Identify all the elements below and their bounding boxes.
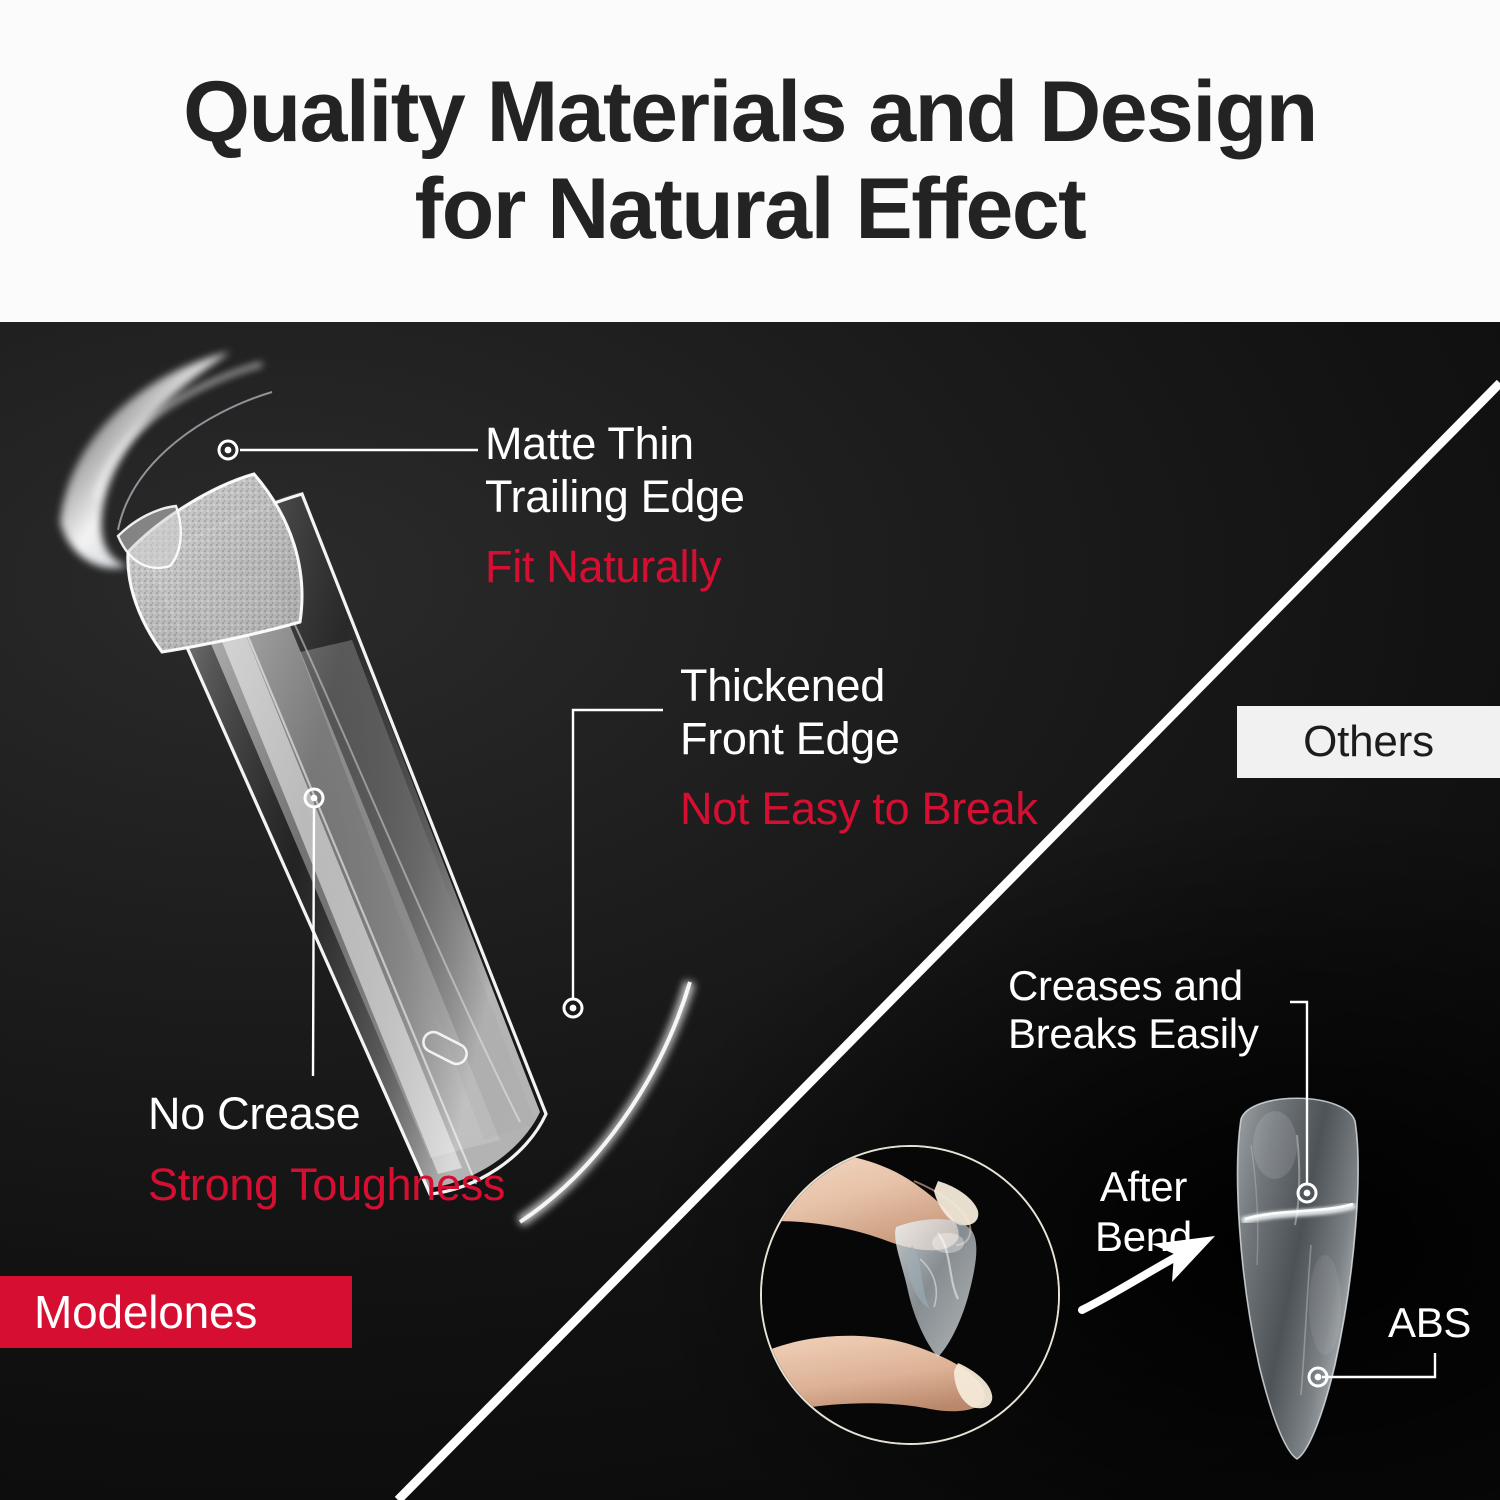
callout-thick-sub: Not Easy to Break: [680, 783, 1038, 836]
header-banner: Quality Materials and Designfor Natural …: [0, 0, 1500, 322]
callout-creases-title: Creases and Breaks Easily: [1008, 962, 1259, 1058]
infographic-page: Quality Materials and Designfor Natural …: [0, 0, 1500, 1500]
competitor-badge-others: Others: [1237, 706, 1500, 778]
title-line-1: Quality Materials and Design: [183, 64, 1317, 160]
callout-matte-title: Matte Thin Trailing Edge: [485, 418, 745, 523]
brand-badge-modelones: Modelones: [0, 1276, 352, 1348]
callout-afterbend-title: After Bend: [1095, 1162, 1192, 1261]
page-title: Quality Materials and Designfor Natural …: [183, 64, 1317, 258]
callout-thickened-front-edge: Thickened Front Edge Not Easy to Break: [680, 660, 1038, 836]
callout-nocrease-sub: Strong Toughness: [148, 1159, 505, 1212]
callout-creases-breaks: Creases and Breaks Easily: [1008, 962, 1259, 1058]
callout-abs-title: ABS: [1388, 1298, 1471, 1347]
callout-thick-title: Thickened Front Edge: [680, 660, 1038, 765]
title-line-2: for Natural Effect: [415, 161, 1086, 257]
callout-abs-material: ABS: [1388, 1298, 1471, 1347]
pinch-fingers-illustration: [762, 1147, 1060, 1445]
abs-nail-photo: [1215, 1075, 1380, 1465]
callout-after-bend: After Bend: [1095, 1162, 1192, 1261]
callout-nocrease-title: No Crease: [148, 1088, 505, 1141]
callout-matte-sub: Fit Naturally: [485, 541, 745, 594]
callout-matte-trailing-edge: Matte Thin Trailing Edge Fit Naturally: [485, 418, 745, 594]
bend-demo-photo: [760, 1145, 1060, 1445]
callout-no-crease: No Crease Strong Toughness: [148, 1088, 505, 1211]
